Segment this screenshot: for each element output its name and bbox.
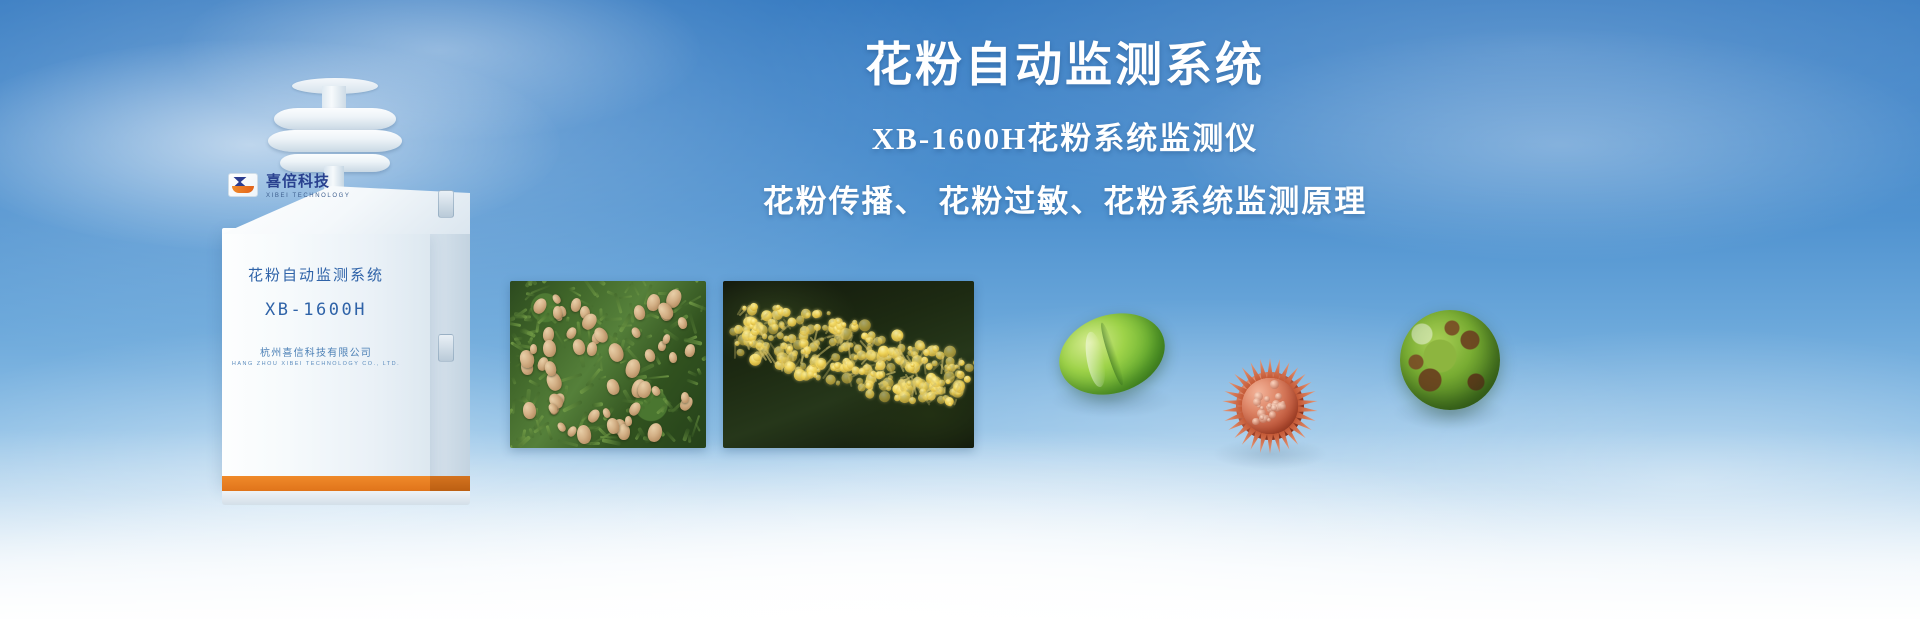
catkin-filament-icon	[944, 386, 946, 394]
pollen-cone-icon	[551, 293, 562, 305]
spiky-pollen-grain-icon	[1222, 358, 1318, 454]
device-base-foot	[222, 491, 470, 505]
device-company-en: HANG ZHOU XIBEI TECHNOLOGY CO., LTD.	[196, 361, 436, 367]
pollen-cone-icon	[632, 304, 646, 321]
pollen-spine-icon	[1267, 434, 1273, 454]
pollen-cone-icon	[624, 416, 632, 427]
conifer-needle-icon	[687, 379, 699, 386]
catkin-filament-icon	[781, 354, 783, 372]
conifer-needle-icon	[592, 402, 603, 407]
conifer-needle-icon	[624, 284, 632, 294]
conifer-needle-icon	[689, 301, 706, 311]
pollen-surface-bump-icon	[1260, 415, 1265, 420]
pollen-cone-icon	[522, 401, 536, 419]
device-base-accent	[222, 476, 430, 491]
device-inlet-disc	[268, 130, 402, 152]
conifer-needle-icon	[631, 281, 640, 295]
device-latch	[438, 334, 454, 362]
catkin-floret-icon	[836, 381, 841, 386]
page-title: 花粉自动监测系统	[600, 36, 1530, 93]
rough-pollen-grain-icon	[1400, 310, 1500, 410]
conifer-needle-icon	[562, 400, 583, 413]
device-company-cn: 杭州喜信科技有限公司	[196, 344, 436, 359]
conifer-needle-icon	[665, 431, 676, 443]
conifer-needle-icon	[660, 404, 665, 413]
brand-name-cn: 喜倍科技	[266, 170, 351, 191]
pollen-surface-bump-icon	[1253, 398, 1260, 405]
catkin-filament-icon	[882, 362, 885, 372]
device-panel-title: 花粉自动监测系统	[196, 264, 436, 285]
conifer-needle-icon	[565, 317, 569, 324]
pollen-cone-icon	[668, 352, 677, 364]
conifer-needle-icon	[528, 380, 540, 388]
pollen-cone-icon	[683, 343, 695, 358]
device-panel-model: XB-1600H	[196, 300, 436, 320]
conifer-needle-icon	[596, 281, 606, 286]
device-brand-logo: 喜倍科技 XIBEI TECHNOLOGY	[228, 170, 351, 199]
catkin-floret-icon	[813, 309, 823, 319]
pollen-surface-bump-icon	[1275, 393, 1282, 400]
conifer-needle-icon	[645, 335, 652, 340]
pollen-cone-icon	[530, 344, 538, 354]
pollen-spine-icon	[1267, 358, 1273, 378]
catkin-floret-icon	[816, 368, 821, 373]
pollen-cone-icon	[542, 340, 556, 358]
xibei-logo-icon	[228, 173, 258, 197]
pollen-surface-bump-icon	[1271, 405, 1277, 411]
catkin-floret-icon	[736, 348, 746, 358]
catkin-filament-icon	[953, 398, 957, 405]
conifer-needle-icon	[688, 312, 697, 334]
conifer-needle-icon	[695, 281, 703, 283]
banner-subtitle: XB-1600H花粉系统监测仪	[600, 119, 1530, 159]
cloud-haze-icon	[420, 430, 1520, 619]
conifer-needle-icon	[545, 425, 553, 441]
conifer-needle-icon	[701, 355, 706, 362]
conifer-needle-icon	[686, 415, 692, 423]
conifer-needle-icon	[558, 439, 579, 447]
conifer-needle-icon	[511, 376, 516, 385]
conifer-needle-icon	[645, 375, 668, 379]
pollen-cone-icon	[553, 306, 562, 319]
pollen-surface-bump-icon	[1267, 418, 1271, 422]
conifer-needle-icon	[530, 284, 550, 294]
conifer-needle-icon	[618, 324, 632, 327]
conifer-needle-icon	[668, 408, 678, 412]
banner-headline-block: 花粉自动监测系统 XB-1600H花粉系统监测仪 花粉传播、 花粉过敏、花粉系统…	[600, 36, 1530, 222]
catkin-floret-icon	[908, 396, 916, 404]
pollen-cone-icon	[586, 407, 602, 424]
catkin-filament-icon	[734, 339, 736, 359]
conifer-needle-icon	[602, 439, 622, 447]
catkin-floret-icon	[864, 389, 875, 400]
banner-tagline: 花粉传播、 花粉过敏、花粉系统监测原理	[600, 182, 1530, 222]
pollen-cone-icon	[604, 378, 620, 397]
catkin-filament-icon	[826, 343, 836, 349]
conifer-needle-icon	[598, 375, 606, 380]
catkin-floret-icon	[805, 312, 812, 319]
pollen-cone-icon	[618, 424, 630, 440]
cypress-detail-layer	[510, 281, 706, 448]
conifer-needle-icon	[581, 281, 597, 296]
cloud-haze-icon	[1280, 330, 1920, 619]
cypress-pollen-photo	[510, 281, 706, 448]
catkin-floret-icon	[827, 311, 832, 316]
pollen-cone-icon	[662, 333, 672, 344]
pollen-cone-icon	[556, 421, 567, 433]
pollen-monitoring-banner: 喜倍科技 XIBEI TECHNOLOGY 花粉自动监测系统 XB-1600H …	[0, 0, 1920, 619]
conifer-needle-icon	[510, 446, 513, 448]
conifer-needle-icon	[524, 318, 533, 322]
pollen-monitor-device: 喜倍科技 XIBEI TECHNOLOGY 花粉自动监测系统 XB-1600H …	[196, 78, 496, 438]
conifer-needle-icon	[619, 295, 632, 299]
pollen-cone-icon	[571, 338, 587, 357]
catkin-floret-icon	[815, 375, 821, 381]
conifer-needle-icon	[569, 289, 582, 297]
device-base-accent-side	[430, 476, 470, 491]
conifer-needle-icon	[635, 281, 648, 286]
conifer-needle-icon	[511, 315, 531, 318]
conifer-needle-icon	[614, 292, 622, 313]
catkin-flower-photo	[723, 281, 974, 448]
catkin-floret-icon	[948, 402, 953, 407]
device-latch	[438, 190, 454, 218]
conifer-needle-icon	[514, 336, 523, 340]
device-inlet-disc	[274, 108, 396, 130]
conifer-needle-icon	[559, 373, 583, 383]
conifer-needle-icon	[635, 432, 642, 440]
conifer-needle-icon	[512, 400, 517, 414]
pollen-cone-icon	[646, 421, 664, 443]
catkin-floret-icon	[878, 390, 891, 403]
brand-name-en: XIBEI TECHNOLOGY	[266, 193, 351, 199]
conifer-needle-icon	[510, 321, 521, 327]
pollen-cone-icon	[680, 392, 689, 404]
conifer-needle-icon	[510, 353, 511, 364]
pollen-cone-icon	[643, 348, 657, 364]
conifer-needle-icon	[605, 317, 622, 321]
